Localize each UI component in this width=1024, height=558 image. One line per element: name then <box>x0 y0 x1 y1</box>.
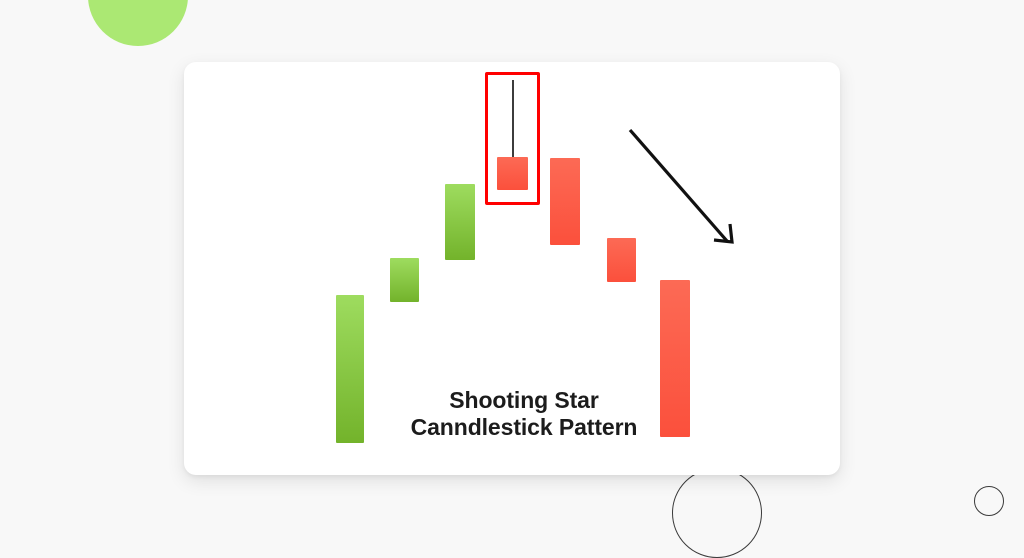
chart-caption: Shooting Star Canndlestick Pattern <box>384 387 664 441</box>
caption-line-1: Shooting Star <box>384 387 664 414</box>
candle-1-bullish <box>336 295 364 443</box>
candle-3-bullish <box>445 184 475 260</box>
candle-7-bearish <box>660 280 690 437</box>
small-outline-circle-decoration <box>974 486 1004 516</box>
green-circle-decoration <box>88 0 188 46</box>
candle-6-bearish <box>607 238 636 282</box>
caption-line-2: Canndlestick Pattern <box>384 414 664 441</box>
large-outline-circle-decoration <box>672 468 762 558</box>
illustration-canvas: Shooting Star Canndlestick Pattern <box>0 0 1024 538</box>
shooting-star-highlight-box <box>485 72 540 205</box>
candle-5-bearish <box>550 158 580 245</box>
candle-2-bullish <box>390 258 419 302</box>
candlestick-chart-card: Shooting Star Canndlestick Pattern <box>184 62 840 475</box>
